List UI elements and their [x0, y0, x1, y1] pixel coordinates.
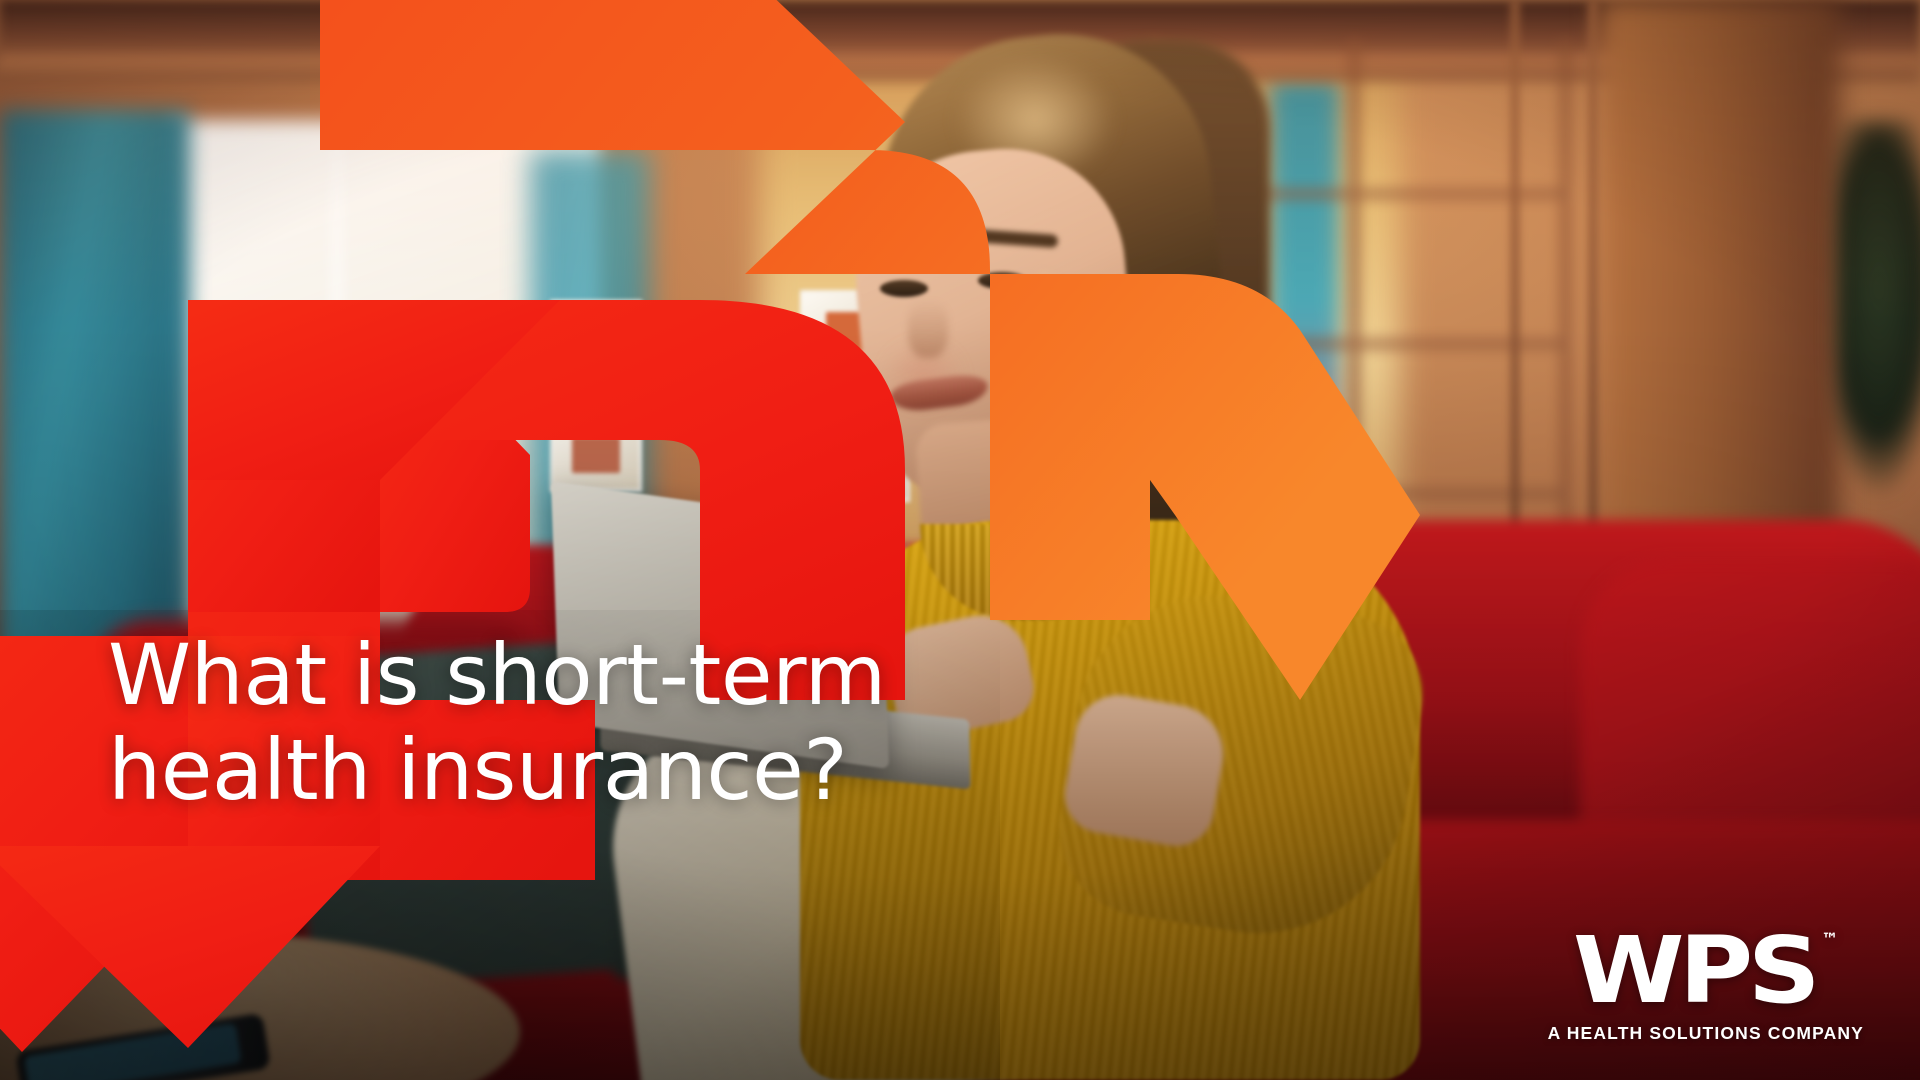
trademark-icon: ™: [1821, 933, 1838, 949]
eye-right: [978, 272, 1026, 289]
wall-picture-5: [550, 418, 642, 492]
plant-right: [1835, 120, 1920, 540]
headline-line-1: What is short-term: [108, 626, 886, 724]
window-frame: [330, 120, 344, 680]
headline-line-2: health insurance?: [108, 721, 847, 819]
wall-picture-4: [550, 300, 642, 374]
wps-tagline: A HEALTH SOLUTIONS COMPANY: [1548, 1023, 1864, 1044]
wps-wordmark: WPS ™: [1573, 929, 1839, 1014]
wps-wordmark-text: WPS: [1573, 929, 1815, 1014]
eye-left: [880, 280, 928, 297]
nose: [908, 300, 948, 358]
wps-logo[interactable]: WPS ™ A HEALTH SOLUTIONS COMPANY: [1548, 929, 1864, 1044]
earring-gold: [1018, 330, 1052, 382]
promo-banner: What is short-termhealth insurance? WPS …: [0, 0, 1920, 1080]
page-title: What is short-termhealth insurance?: [108, 628, 1008, 818]
